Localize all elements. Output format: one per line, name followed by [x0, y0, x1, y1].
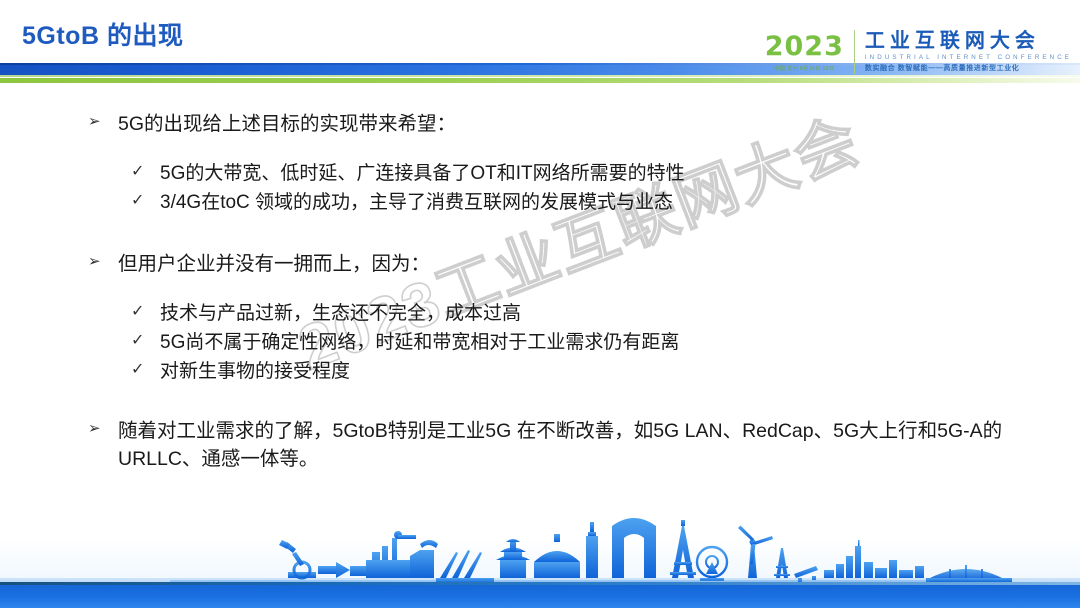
sub-bullet-group: ✓ 5G的大带宽、低时延、广连接具备了OT和IT网络所需要的特性 ✓ 3/4G在… — [0, 160, 1080, 218]
check-bullet-icon: ✓ — [131, 300, 144, 324]
check-bullet-icon: ✓ — [131, 189, 144, 213]
arrow-bullet-icon: ➢ — [88, 251, 101, 273]
bullet-level2-text: 5G尚不属于确定性网络，时延和带宽相对于工业需求仍有距离 — [160, 332, 679, 353]
arrow-bullet-icon: ➢ — [88, 111, 101, 133]
check-bullet-icon: ✓ — [131, 160, 144, 184]
bullet-level2: ✓ 3/4G在toC 领域的成功，主导了消费互联网的发展模式与业态 — [0, 189, 1080, 218]
header-rule-green — [0, 78, 1080, 83]
skyline-illustration — [0, 512, 1080, 584]
bullet-level1-text: 5G的出现给上述目标的实现带来希望： — [118, 113, 456, 135]
bullet-level2: ✓ 对新生事物的接受程度 — [0, 358, 1080, 387]
logo-year-block: 2023 中国·苏州 8月14日-16日 — [765, 26, 854, 78]
logo-name-cn: 工业互联网大会 — [865, 31, 1072, 52]
bullet-level1: ➢ 但用户企业并没有一拥而上，因为： — [0, 250, 1080, 278]
page-title: 5GtoB 的出现 — [22, 16, 183, 52]
bullet-level2: ✓ 技术与产品过新，生态还不完全，成本过高 — [0, 300, 1080, 329]
logo-divider — [854, 30, 855, 74]
content-block: ➢ 但用户企业并没有一拥而上，因为： ✓ 技术与产品过新，生态还不完全，成本过高… — [0, 250, 1080, 387]
bottom-band — [0, 582, 1080, 608]
bullet-level2: ✓ 5G的大带宽、低时延、广连接具备了OT和IT网络所需要的特性 — [0, 160, 1080, 189]
bullet-level1: ➢ 5G的出现给上述目标的实现带来希望： — [0, 110, 1080, 138]
check-bullet-icon: ✓ — [131, 329, 144, 353]
bottom-glow — [0, 540, 1080, 582]
logo-date: 中国·苏州 8月14日-16日 — [774, 65, 834, 72]
bullet-level2-text: 对新生事物的接受程度 — [160, 361, 350, 382]
content-block: ➢ 5G的出现给上述目标的实现带来希望： ✓ 5G的大带宽、低时延、广连接具备了… — [0, 110, 1080, 218]
content-block: ➢ 随着对工业需求的了解，5GtoB特别是工业5G 在不断改善，如5G LAN、… — [0, 417, 1080, 474]
logo-year: 2023 — [765, 33, 844, 60]
slide-content: ➢ 5G的出现给上述目标的实现带来希望： ✓ 5G的大带宽、低时延、广连接具备了… — [0, 110, 1080, 499]
sub-bullet-group: ✓ 技术与产品过新，生态还不完全，成本过高 ✓ 5G尚不属于确定性网络，时延和带… — [0, 300, 1080, 387]
conference-logo: 2023 中国·苏州 8月14日-16日 工业互联网大会 INDUSTRIAL … — [765, 26, 1072, 78]
bullet-level1-text: 随着对工业需求的了解，5GtoB特别是工业5G 在不断改善，如5G LAN、Re… — [118, 420, 1002, 470]
bullet-level2-text: 3/4G在toC 领域的成功，主导了消费互联网的发展模式与业态 — [160, 192, 673, 213]
bullet-level1: ➢ 随着对工业需求的了解，5GtoB特别是工业5G 在不断改善，如5G LAN、… — [0, 417, 1080, 474]
logo-name-block: 工业互联网大会 INDUSTRIAL INTERNET CONFERENCE 数… — [865, 26, 1072, 78]
logo-name-en: INDUSTRIAL INTERNET CONFERENCE — [865, 54, 1072, 61]
bullet-level2-text: 技术与产品过新，生态还不完全，成本过高 — [160, 303, 521, 324]
bullet-level2-text: 5G的大带宽、低时延、广连接具备了OT和IT网络所需要的特性 — [160, 163, 685, 184]
logo-tagline: 数实融合 数智赋能——高质量推进新型工业化 — [865, 63, 1072, 73]
arrow-bullet-icon: ➢ — [88, 418, 101, 440]
bullet-level2: ✓ 5G尚不属于确定性网络，时延和带宽相对于工业需求仍有距离 — [0, 329, 1080, 358]
check-bullet-icon: ✓ — [131, 358, 144, 382]
bullet-level1-text: 但用户企业并没有一拥而上，因为： — [118, 253, 430, 275]
slide-root: 5GtoB 的出现 2023 中国·苏州 8月14日-16日 工业互联网大会 I… — [0, 0, 1080, 608]
